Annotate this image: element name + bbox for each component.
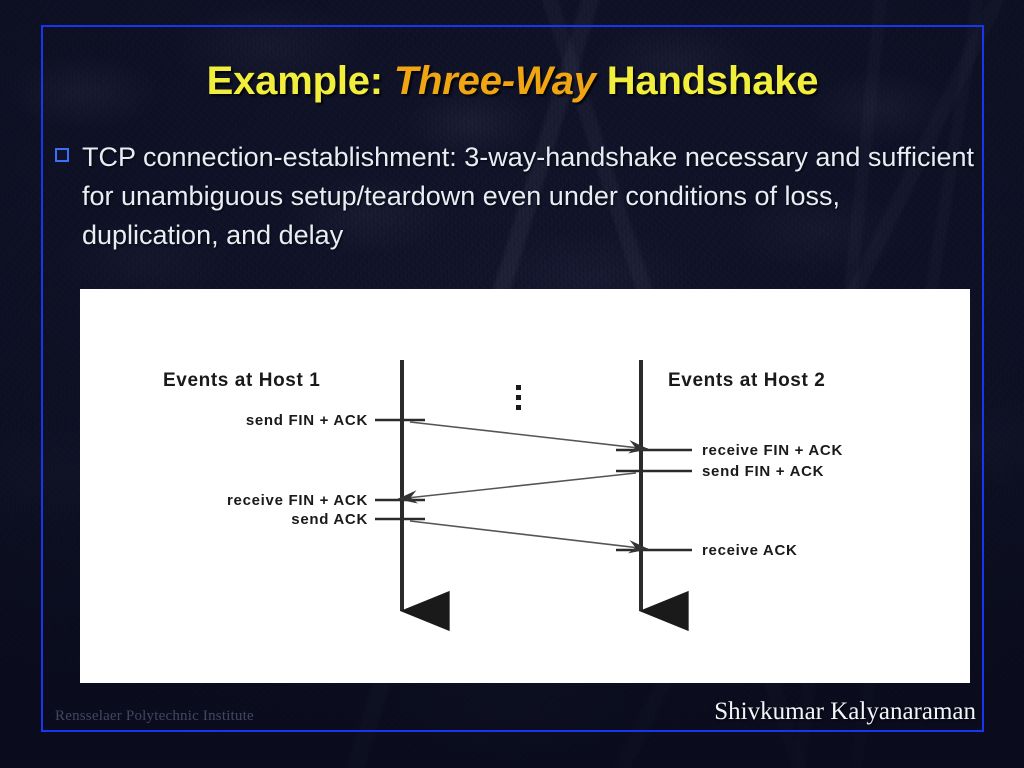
event-label-send-fin-ack-host2: send FIN + ACK <box>702 463 824 480</box>
footer-institute-name: Rensselaer Polytechnic Institute <box>55 708 254 725</box>
host2-header: Events at Host 2 <box>668 370 825 391</box>
slide-page-number: 21 <box>0 738 1024 764</box>
footer-author-name: Shivkumar Kalyanaraman <box>714 698 976 726</box>
slide-title: Example: Three-Way Handshake <box>41 58 984 104</box>
event-label-receive-fin-ack-host2: receive FIN + ACK <box>702 442 843 459</box>
title-part-handshake: Handshake <box>596 59 819 103</box>
event-label-receive-fin-ack-host1: receive FIN + ACK <box>227 492 368 509</box>
event-label-send-ack-host1: send ACK <box>291 511 368 528</box>
bullet-list: TCP connection-establishment: 3-way-hand… <box>55 138 980 255</box>
event-label-receive-ack-host2: receive ACK <box>702 542 798 559</box>
diagram-image-panel: Events at Host 1 Events at Host 2 send F… <box>80 289 970 683</box>
message-arrow-1 <box>410 422 648 449</box>
sequence-diagram: Events at Host 1 Events at Host 2 send F… <box>80 289 970 683</box>
event-label-send-fin-ack-host1: send FIN + ACK <box>246 412 368 429</box>
bullet-item-text: TCP connection-establishment: 3-way-hand… <box>82 138 980 255</box>
title-part-three-way: Three-Way <box>394 59 596 103</box>
title-part-example: Example: <box>207 59 394 103</box>
host1-header: Events at Host 1 <box>163 370 320 391</box>
message-arrow-3 <box>410 521 648 549</box>
message-arrow-2 <box>398 473 636 499</box>
vertical-ellipsis-icon <box>516 385 521 410</box>
square-bullet-icon <box>55 148 69 162</box>
